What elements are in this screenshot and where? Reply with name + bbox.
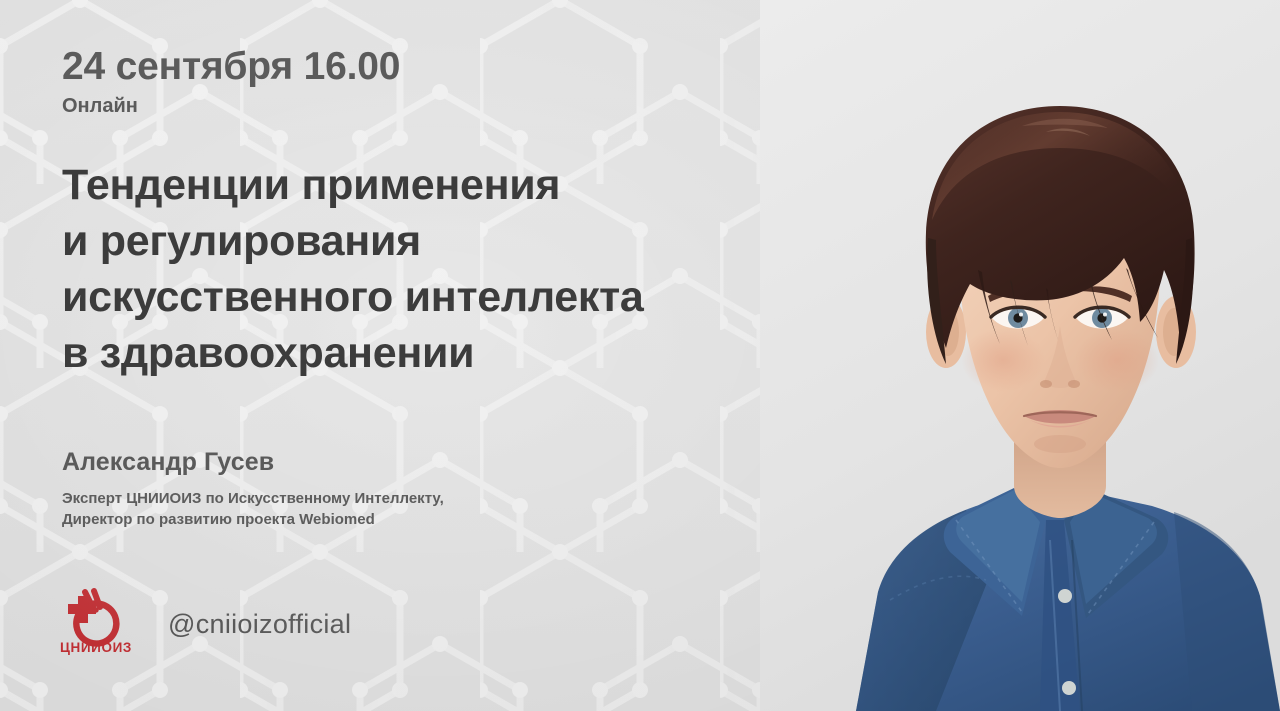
poster-content: 24 сентября 16.00 Онлайн Тенденции приме… xyxy=(0,0,790,711)
event-format: Онлайн xyxy=(62,94,790,118)
speaker-role-line-2: Директор по развитию проекта Webiomed xyxy=(62,509,790,531)
page-title: Тенденции применения и регулирования иск… xyxy=(62,158,790,382)
title-line-2: и регулирования xyxy=(62,214,790,270)
title-line-3: искусственного интеллекта xyxy=(62,270,790,326)
webinar-poster: 24 сентября 16.00 Онлайн Тенденции приме… xyxy=(0,0,1280,711)
event-date: 24 сентября 16.00 xyxy=(62,46,790,88)
title-line-4: в здравоохранении xyxy=(62,326,790,382)
speaker-name: Александр Гусев xyxy=(62,447,790,477)
title-line-1: Тенденции применения xyxy=(62,158,790,214)
speaker-photo xyxy=(760,0,1280,711)
speaker-role-line-1: Эксперт ЦНИИОИЗ по Искусственному Интелл… xyxy=(62,488,790,510)
speaker-block: Александр Гусев Эксперт ЦНИИОИЗ по Искус… xyxy=(62,447,790,532)
speaker-role: Эксперт ЦНИИОИЗ по Искусственному Интелл… xyxy=(62,488,790,532)
